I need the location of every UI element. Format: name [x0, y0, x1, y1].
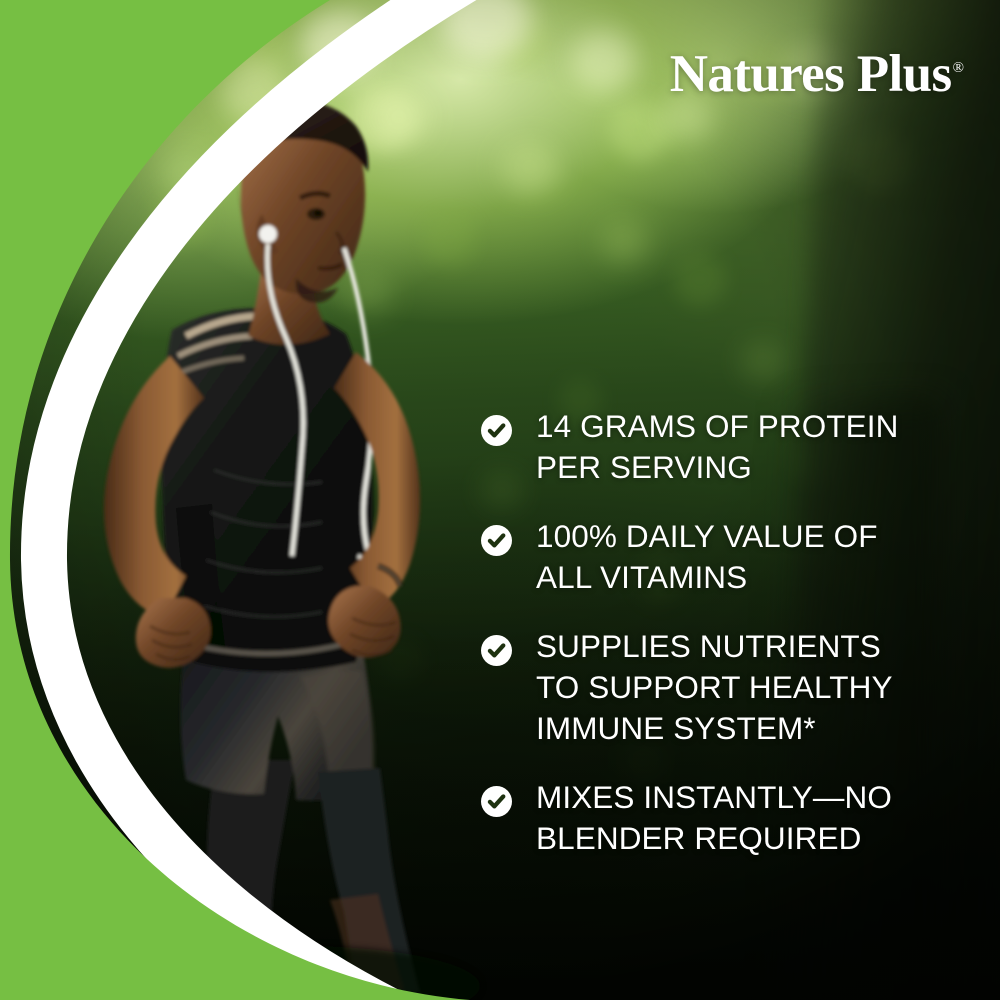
list-item-label: SUPPLIES NUTRIENTS TO SUPPORT HEALTHY IM… [536, 626, 893, 749]
list-item: SUPPLIES NUTRIENTS TO SUPPORT HEALTHY IM… [481, 626, 951, 749]
check-circle-icon [481, 525, 512, 556]
list-item: 14 GRAMS OF PROTEIN PER SERVING [481, 406, 951, 488]
brand-name: Natures Plus [670, 45, 952, 103]
registered-trademark-icon: ® [953, 60, 964, 76]
brand-logo: Natures Plus® [670, 48, 964, 101]
list-item-label: 14 GRAMS OF PROTEIN PER SERVING [536, 406, 898, 488]
feature-bullet-list: 14 GRAMS OF PROTEIN PER SERVING 100% DAI… [481, 406, 951, 858]
list-item: MIXES INSTANTLY—NO BLENDER REQUIRED [481, 777, 951, 859]
list-item-label: MIXES INSTANTLY—NO BLENDER REQUIRED [536, 777, 892, 859]
check-circle-icon [481, 786, 512, 817]
check-circle-icon [481, 415, 512, 446]
list-item-label: 100% DAILY VALUE OF ALL VITAMINS [536, 516, 878, 598]
advertisement-banner: Natures Plus® 14 GRAMS OF PROTEIN PER SE… [0, 0, 1000, 1000]
list-item: 100% DAILY VALUE OF ALL VITAMINS [481, 516, 951, 598]
check-circle-icon [481, 635, 512, 666]
